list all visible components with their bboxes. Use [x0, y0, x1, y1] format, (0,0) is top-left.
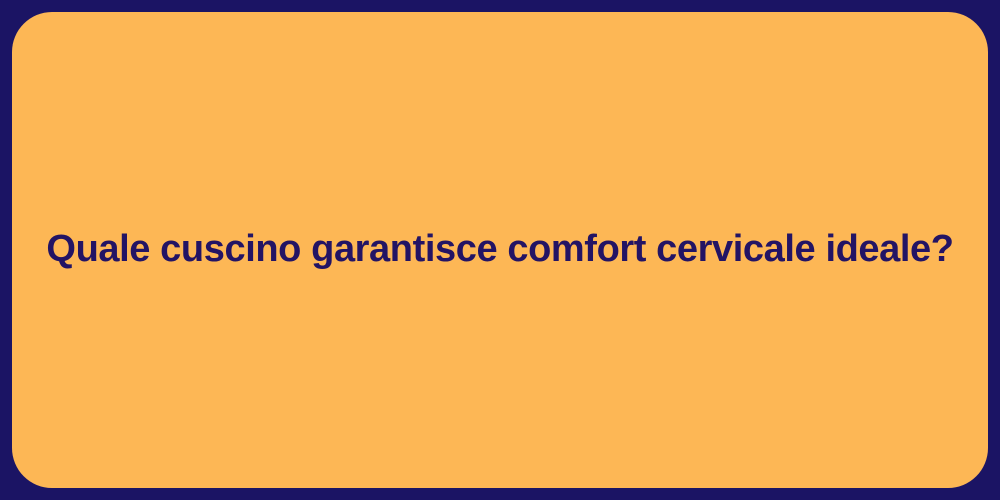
- banner-headline: Quale cuscino garantisce comfort cervica…: [46, 226, 953, 274]
- question-banner: Quale cuscino garantisce comfort cervica…: [0, 0, 1000, 500]
- banner-card: Quale cuscino garantisce comfort cervica…: [12, 12, 988, 488]
